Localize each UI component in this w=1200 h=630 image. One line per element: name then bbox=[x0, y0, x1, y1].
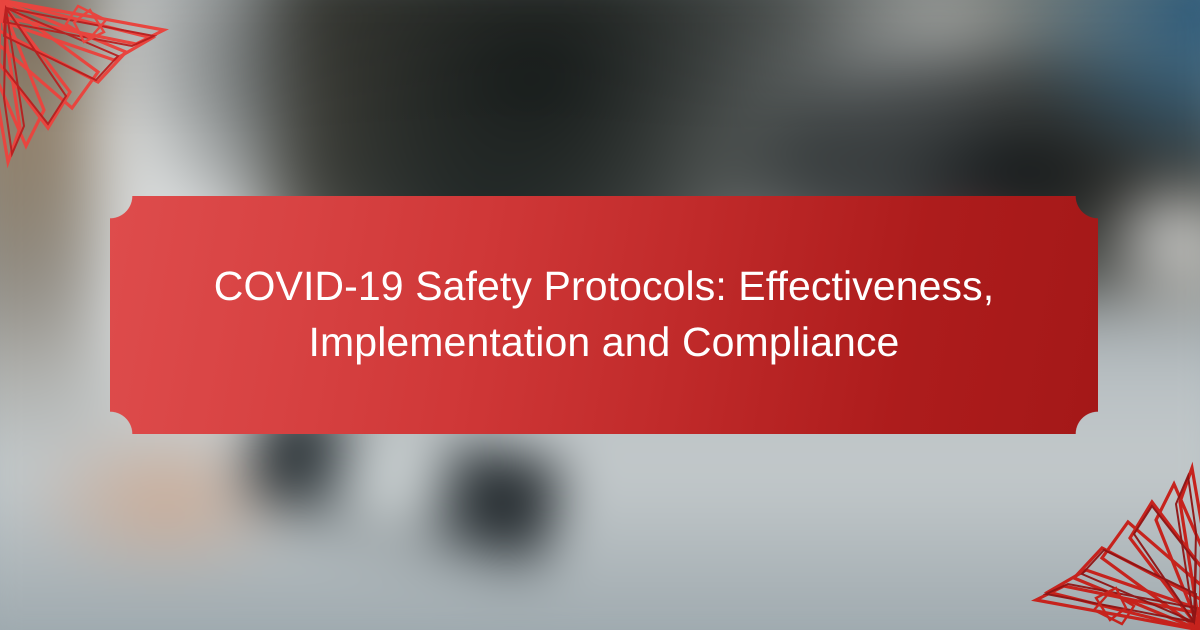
title-banner: COVID-19 Safety Protocols: Effectiveness… bbox=[110, 196, 1098, 434]
page-title: COVID-19 Safety Protocols: Effectiveness… bbox=[180, 259, 1028, 371]
social-share-card: COVID-19 Safety Protocols: Effectiveness… bbox=[0, 0, 1200, 630]
